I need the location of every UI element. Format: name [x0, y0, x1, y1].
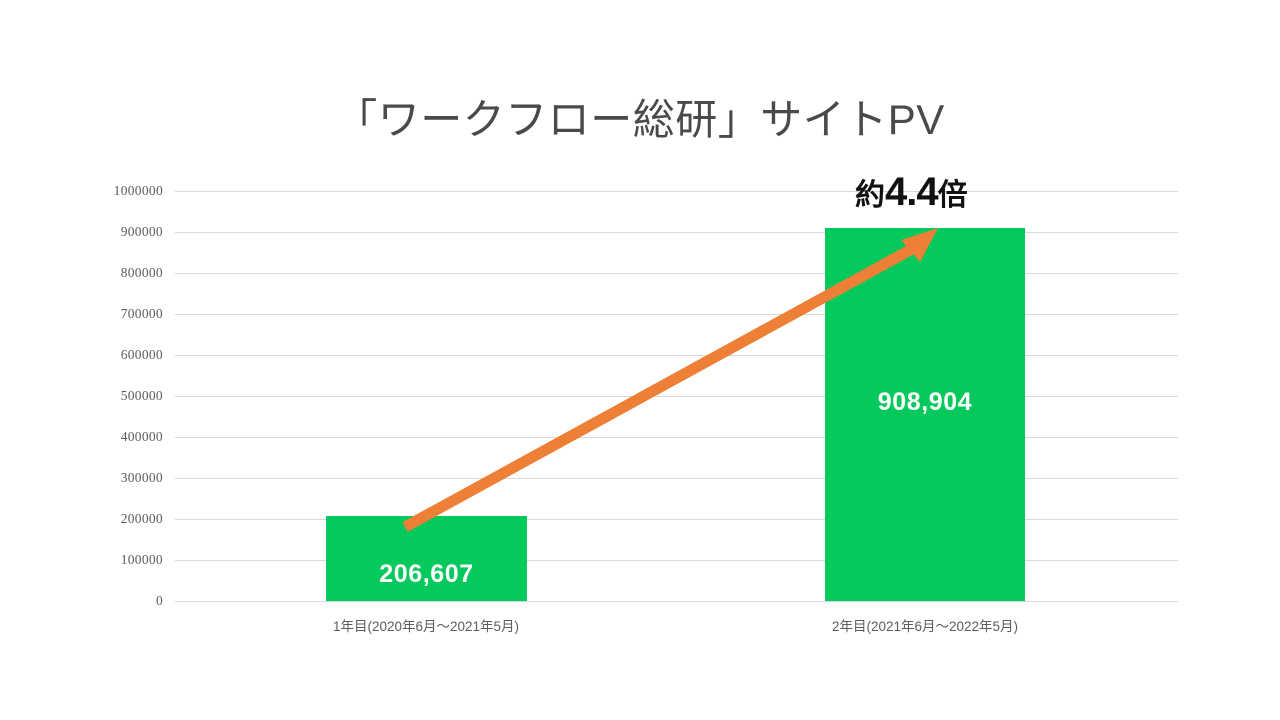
gridline	[175, 396, 1178, 397]
y-tick-label: 100000	[0, 552, 163, 568]
gridline	[175, 355, 1178, 356]
bar-chart: 「ワークフロー総研」サイトPV 0 100000 200000 300000 4…	[0, 0, 1280, 720]
annotation-prefix: 約	[855, 179, 885, 212]
y-tick-label: 400000	[0, 429, 163, 445]
x-tick-label-year-1: 1年目(2020年6月〜2021年5月)	[226, 615, 626, 635]
bar-year-1[interactable]: 206,607	[326, 516, 527, 601]
annotation-suffix: 倍	[938, 179, 968, 212]
annotation-value: 4.4	[885, 170, 938, 214]
y-tick-label: 700000	[0, 306, 163, 322]
y-tick-label: 800000	[0, 265, 163, 281]
x-tick-label-year-2: 2年目(2021年6月〜2022年5月)	[725, 615, 1125, 635]
gridline	[175, 478, 1178, 479]
y-tick-label: 0	[0, 593, 163, 609]
y-tick-label: 500000	[0, 388, 163, 404]
chart-title: 「ワークフロー総研」サイトPV	[0, 96, 1280, 144]
y-axis: 0 100000 200000 300000 400000 500000 600…	[0, 191, 163, 601]
y-tick-label: 600000	[0, 347, 163, 363]
gridline	[175, 232, 1178, 233]
y-tick-label: 1000000	[0, 183, 163, 199]
gridline	[175, 273, 1178, 274]
growth-multiplier-annotation: 約4.4倍	[855, 172, 968, 212]
bar-value-label: 908,904	[825, 388, 1025, 417]
gridline	[175, 191, 1178, 192]
gridline	[175, 601, 1178, 602]
plot-area: 206,607 908,904	[175, 191, 1178, 601]
y-tick-label: 300000	[0, 470, 163, 486]
bar-value-label: 206,607	[326, 560, 527, 589]
bar-year-2[interactable]: 908,904	[825, 228, 1025, 601]
y-tick-label: 200000	[0, 511, 163, 527]
gridline	[175, 437, 1178, 438]
y-tick-label: 900000	[0, 224, 163, 240]
gridline	[175, 314, 1178, 315]
